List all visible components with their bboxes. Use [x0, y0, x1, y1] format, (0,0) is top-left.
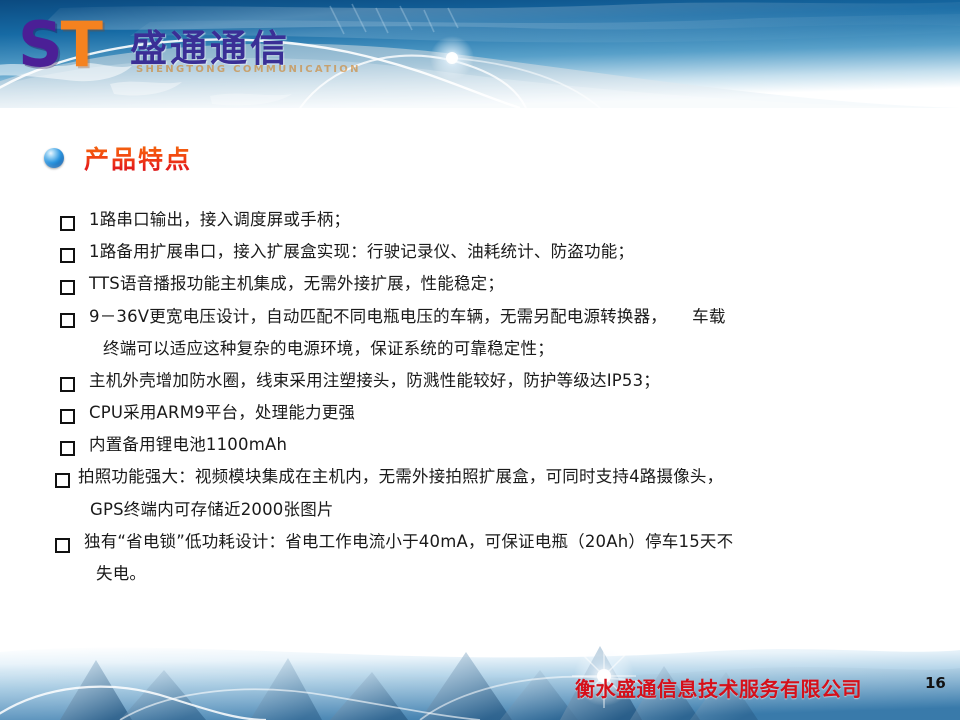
list-item: CPU采用ARM9平台，处理能力更强: [60, 397, 940, 429]
list-item: 1路备用扩展串口，接入扩展盒实现：行驶记录仪、油耗统计、防盗功能；: [60, 236, 940, 268]
list-item-line-continued: 失电。: [84, 558, 940, 590]
list-item-text: 9－36V更宽电压设计，自动匹配不同电瓶电压的车辆，无需另配电源转换器， 车载 …: [89, 301, 940, 365]
company-logo: ST 盛通通信 SHENGTONG COMMUNICATION: [18, 12, 318, 82]
logo-letter-s: S: [18, 8, 61, 81]
list-item-line-continued: 终端可以适应这种复杂的电源环境，保证系统的可靠稳定性；: [89, 333, 940, 365]
list-item-text: 独有“省电锁”低功耗设计：省电工作电流小于40mA，可保证电瓶（20Ah）停车1…: [84, 526, 940, 590]
section-heading: 产品特点: [44, 140, 192, 176]
footer-artwork: [0, 612, 960, 720]
hollow-square-bullet-icon: [60, 280, 75, 295]
list-item: 9－36V更宽电压设计，自动匹配不同电瓶电压的车辆，无需另配电源转换器， 车载 …: [60, 301, 940, 365]
product-feature-list: 1路串口输出，接入调度屏或手柄； 1路备用扩展串口，接入扩展盒实现：行驶记录仪、…: [60, 204, 940, 590]
hollow-square-bullet-icon: [60, 313, 75, 328]
list-item-line: 9－36V更宽电压设计，自动匹配不同电瓶电压的车辆，无需另配电源转换器， 车载: [89, 307, 726, 326]
hollow-square-bullet-icon: [60, 248, 75, 263]
logo-english-name: SHENGTONG COMMUNICATION: [136, 64, 361, 75]
hollow-square-bullet-icon: [55, 538, 70, 553]
list-item-text: 1路串口输出，接入调度屏或手柄；: [89, 204, 940, 236]
list-item-text: 1路备用扩展串口，接入扩展盒实现：行驶记录仪、油耗统计、防盗功能；: [89, 236, 940, 268]
hollow-square-bullet-icon: [60, 409, 75, 424]
hollow-square-bullet-icon: [55, 473, 70, 488]
list-item: 主机外壳增加防水圈，线束采用注塑接头，防溅性能较好，防护等级达IP53；: [60, 365, 940, 397]
slide-footer-banner: [0, 612, 960, 720]
page-title: 产品特点: [84, 140, 192, 176]
list-item-line: 拍照功能强大：视频模块集成在主机内，无需外接拍照扩展盒，可同时支持4路摄像头，: [78, 467, 723, 486]
list-item-line-continued: GPS终端内可存储近2000张图片: [78, 494, 940, 526]
logo-mark-st: ST: [18, 14, 101, 76]
footer-company-name: 衡水盛通信息技术服务有限公司: [575, 673, 862, 702]
hollow-square-bullet-icon: [60, 441, 75, 456]
list-item-text: TTS语音播报功能主机集成，无需外接扩展，性能稳定；: [89, 268, 940, 300]
list-item: 内置备用锂电池1100mAh: [60, 429, 940, 461]
page-number: 16: [925, 674, 946, 692]
list-item: 独有“省电锁”低功耗设计：省电工作电流小于40mA，可保证电瓶（20Ah）停车1…: [55, 526, 940, 590]
list-item: TTS语音播报功能主机集成，无需外接扩展，性能稳定；: [60, 268, 940, 300]
hollow-square-bullet-icon: [60, 216, 75, 231]
list-item-text: 主机外壳增加防水圈，线束采用注塑接头，防溅性能较好，防护等级达IP53；: [89, 365, 940, 397]
slide-header-banner: ST 盛通通信 SHENGTONG COMMUNICATION: [0, 0, 960, 108]
list-item: 拍照功能强大：视频模块集成在主机内，无需外接拍照扩展盒，可同时支持4路摄像头， …: [55, 461, 940, 525]
hollow-square-bullet-icon: [60, 377, 75, 392]
list-item-text: 拍照功能强大：视频模块集成在主机内，无需外接拍照扩展盒，可同时支持4路摄像头， …: [78, 461, 940, 525]
logo-letter-t: T: [61, 8, 101, 81]
list-item-text: 内置备用锂电池1100mAh: [89, 429, 940, 461]
list-item-text: CPU采用ARM9平台，处理能力更强: [89, 397, 940, 429]
list-item-line: 独有“省电锁”低功耗设计：省电工作电流小于40mA，可保证电瓶（20Ah）停车1…: [84, 532, 733, 551]
blue-sphere-bullet-icon: [44, 148, 64, 168]
slide-canvas: ST 盛通通信 SHENGTONG COMMUNICATION 产品特点 1路串…: [0, 0, 960, 720]
list-item: 1路串口输出，接入调度屏或手柄；: [60, 204, 940, 236]
